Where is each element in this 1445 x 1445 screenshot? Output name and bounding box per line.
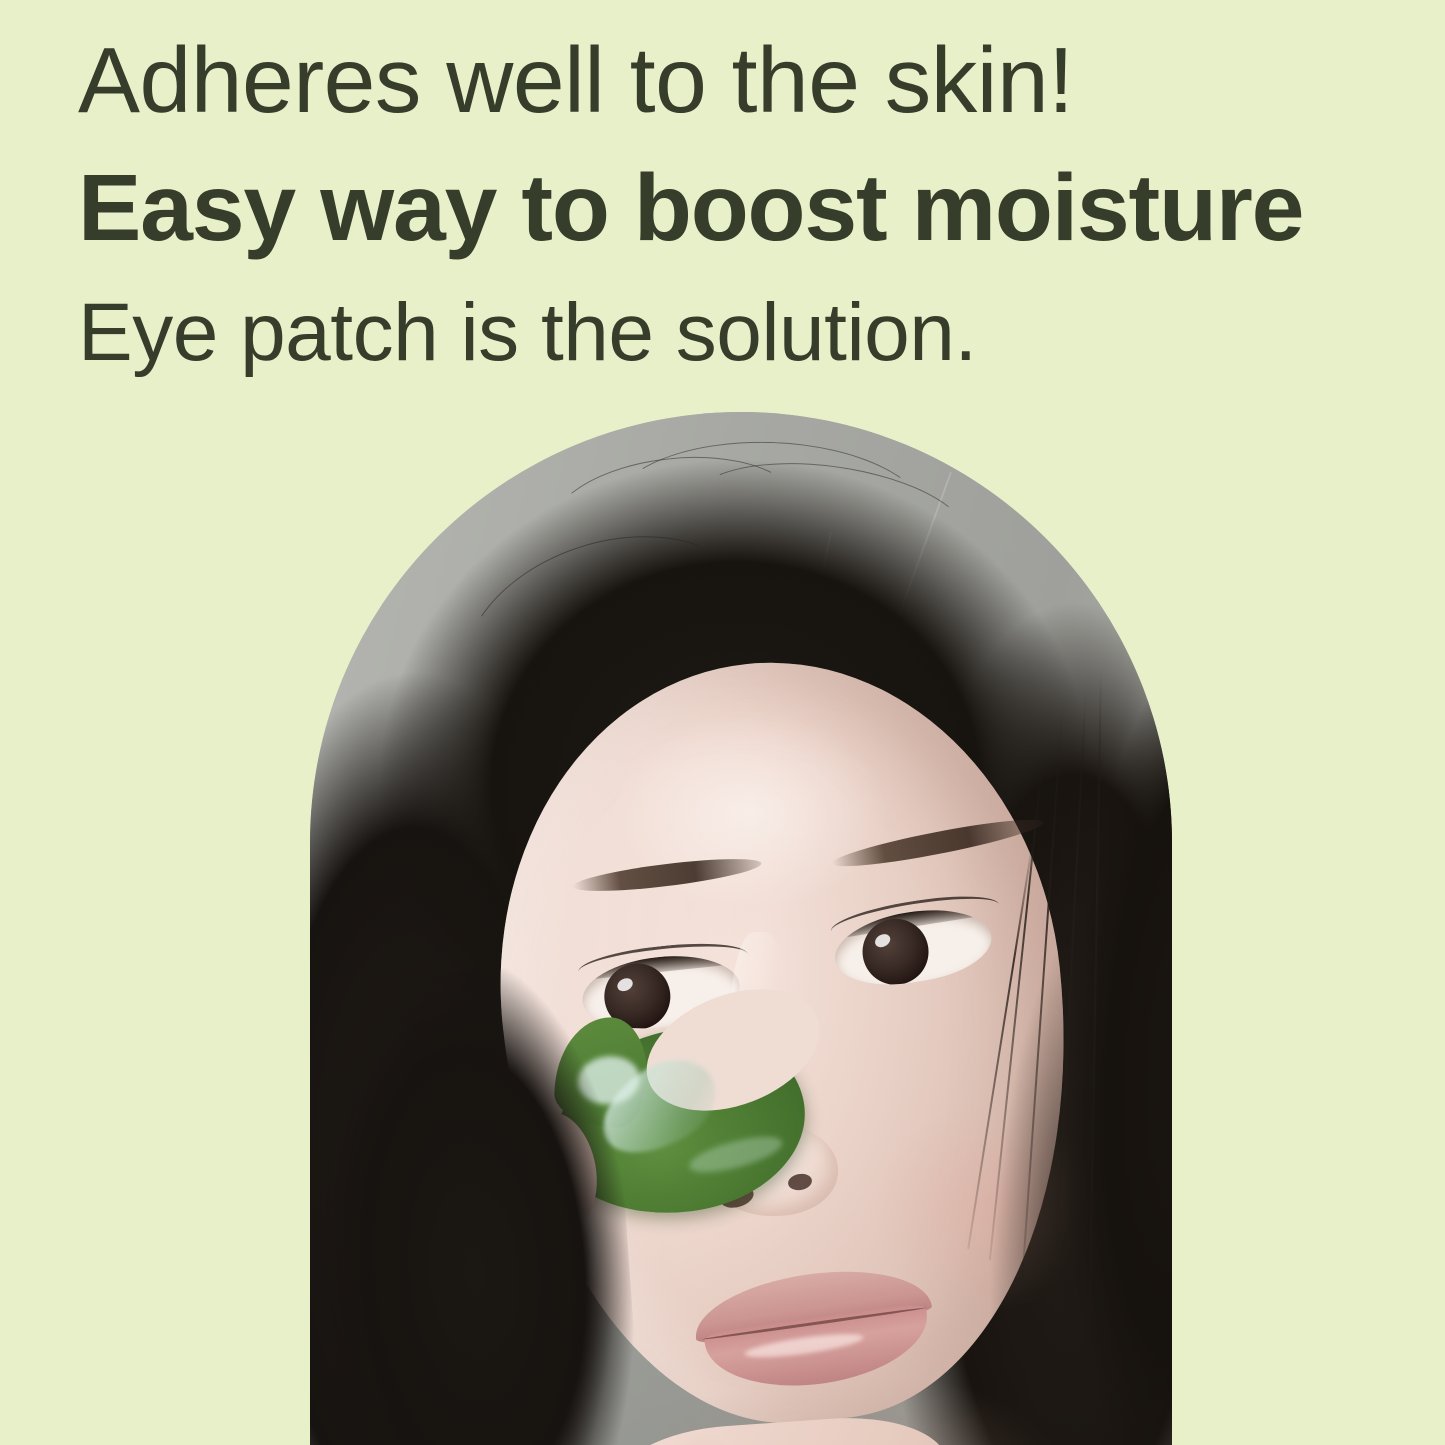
- hair-strands-left: [310, 961, 651, 1445]
- model-photo-arch: [310, 412, 1172, 1445]
- headline-block: Adheres well to the skin! Easy way to bo…: [78, 34, 1378, 374]
- promo-card: Adheres well to the skin! Easy way to bo…: [0, 0, 1445, 1445]
- headline-line-2-emphasis: Easy way to boost moisture: [78, 161, 1378, 256]
- headline-line-3: Eye patch is the solution.: [78, 292, 1378, 374]
- headline-line-1: Adheres well to the skin!: [78, 34, 1378, 127]
